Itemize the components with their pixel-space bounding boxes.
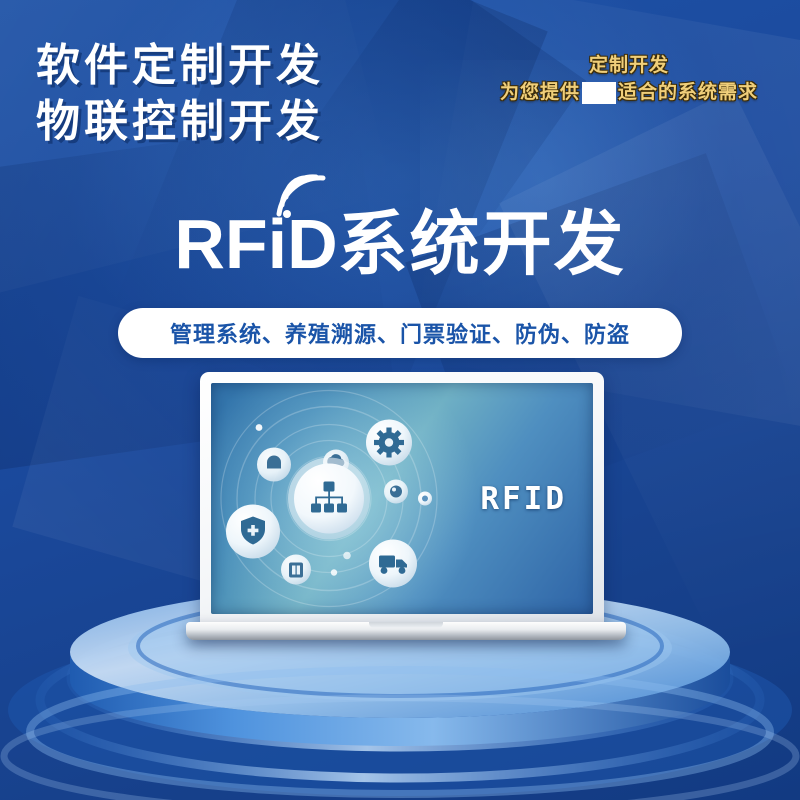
laptop-mockup: RFID	[186, 372, 626, 640]
laptop-screen: RFID	[211, 383, 593, 614]
gold-tagline-prefix: 为您提供	[500, 79, 580, 106]
laptop-base-notch	[369, 622, 443, 628]
truck-icon	[369, 540, 417, 588]
network-hierarchy-icon	[288, 458, 370, 540]
gear-icon	[366, 420, 412, 466]
poster-canvas: 软件定制开发 物联控制开发 定制开发 为您提供 适合的系统需求 RFiD系统开发	[0, 0, 800, 800]
screen-brand-text: RFID	[480, 481, 567, 517]
headline-block: 软件定制开发 物联控制开发	[36, 38, 324, 150]
headline-line-2: 物联控制开发	[36, 94, 324, 150]
orbit-dot	[343, 552, 351, 560]
gold-tagline-line-1: 定制开发	[500, 52, 758, 79]
subtitle-pill: 管理系统、养殖溯源、门票验证、防伪、防盗	[118, 308, 682, 358]
laptop-lid: RFID	[200, 372, 604, 630]
subtitle-pill-text: 管理系统、养殖溯源、门票验证、防伪、防盗	[170, 317, 630, 349]
eye-icon	[384, 480, 408, 504]
document-icon	[281, 555, 311, 585]
headline-line-1: 软件定制开发	[36, 38, 324, 94]
redacted-block	[582, 82, 616, 104]
gold-tagline-block: 定制开发 为您提供 适合的系统需求	[500, 52, 758, 106]
main-title-chinese: 系统开发	[338, 205, 626, 283]
gold-tagline-suffix: 适合的系统需求	[618, 79, 758, 106]
home-icon	[257, 448, 291, 482]
main-title: RFiD系统开发	[0, 206, 800, 282]
orbit-dot	[422, 496, 428, 502]
orbit-dot	[256, 424, 263, 431]
gold-tagline-line-2: 为您提供 适合的系统需求	[500, 79, 758, 106]
main-title-inner: RFiD系统开发	[174, 206, 625, 282]
laptop-base	[186, 622, 626, 640]
shield-icon	[226, 505, 280, 559]
orbit-dot	[331, 569, 337, 575]
wifi-signal-icon	[273, 174, 329, 218]
